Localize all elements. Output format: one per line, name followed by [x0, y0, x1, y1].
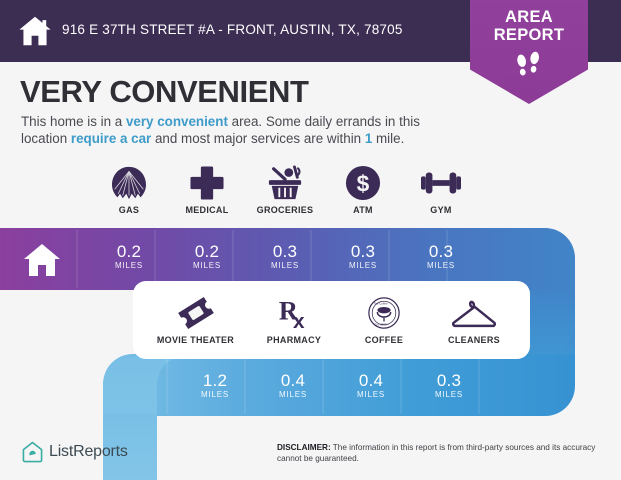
distance-unit: MILES [250, 261, 320, 271]
category-label: CLEANERS [428, 335, 520, 345]
logo-text: ListReports [49, 443, 128, 461]
distance-value: 0.4 [336, 371, 406, 390]
category-label: MEDICAL [168, 205, 246, 215]
category-gas[interactable]: GAS [90, 163, 168, 215]
svg-text:Est. 2003: Est. 2003 [375, 322, 387, 326]
distance-unit: MILES [94, 261, 164, 271]
distance-medical: 0.2 MILES [172, 242, 242, 271]
page-subtitle: This home is in a very convenient area. … [21, 113, 451, 147]
distance-cleaners: 0.3 MILES [414, 371, 484, 400]
grocery-basket-icon [246, 163, 324, 203]
disclaimer-label: DISCLAIMER: [277, 443, 331, 452]
dumbbell-icon [402, 163, 480, 203]
distance-value: 0.2 [94, 242, 164, 261]
subtitle-part-4: mile. [372, 131, 404, 146]
subtitle-highlight-2: require a car [71, 131, 151, 146]
distance-unit: MILES [414, 390, 484, 400]
listreports-house-icon [22, 441, 43, 463]
category-groceries[interactable]: GROCERIES [246, 163, 324, 215]
coffee-seal-icon: The Coffee Est. 2003 [340, 293, 428, 333]
distance-value: 0.3 [414, 371, 484, 390]
category-label: GAS [90, 205, 168, 215]
disclaimer: DISCLAIMER: The information in this repo… [277, 442, 597, 464]
dollar-circle-icon: $ [324, 163, 402, 203]
category-label: PHARMACY [248, 335, 340, 345]
distance-value: 0.2 [172, 242, 242, 261]
area-report-page: 916 E 37TH STREET #A - FRONT, AUSTIN, TX… [0, 0, 621, 480]
distance-unit: MILES [328, 261, 398, 271]
distance-unit: MILES [406, 261, 476, 271]
row1-category-icons: GAS MEDICAL [0, 163, 621, 225]
subtitle-part-3: and most major services are within [151, 131, 365, 146]
distance-gas: 0.2 MILES [94, 242, 164, 271]
category-movie-theater[interactable]: MOVIE THEATER [143, 293, 248, 345]
category-cleaners[interactable]: CLEANERS [428, 293, 520, 345]
badge-title: AREA REPORT [470, 8, 588, 44]
svg-text:x: x [293, 310, 305, 331]
hanger-icon [428, 293, 520, 333]
rx-icon: R x [248, 293, 340, 333]
ticket-icon [143, 293, 248, 333]
badge-line-2: REPORT [494, 26, 565, 44]
area-report-badge: AREA REPORT [470, 0, 588, 104]
property-address: 916 E 37TH STREET #A - FRONT, AUSTIN, TX… [62, 22, 403, 37]
category-atm[interactable]: $ ATM [324, 163, 402, 215]
distance-value: 0.3 [406, 242, 476, 261]
svg-text:The Coffee: The Coffee [374, 302, 388, 306]
distance-value: 0.3 [250, 242, 320, 261]
distance-value: 0.4 [258, 371, 328, 390]
badge-line-1: AREA [505, 8, 553, 26]
row2-category-card: MOVIE THEATER R x PHARMACY [133, 281, 530, 359]
distance-pharmacy: 0.4 MILES [258, 371, 328, 400]
distance-value: 1.2 [180, 371, 250, 390]
category-pharmacy[interactable]: R x PHARMACY [248, 293, 340, 345]
distance-value: 0.3 [328, 242, 398, 261]
footprints-icon [512, 50, 546, 84]
category-coffee[interactable]: The Coffee Est. 2003 COFFEE [340, 293, 428, 345]
category-medical[interactable]: MEDICAL [168, 163, 246, 215]
listreports-logo[interactable]: ListReports [22, 441, 128, 463]
category-gym[interactable]: GYM [402, 163, 480, 215]
distance-unit: MILES [172, 261, 242, 271]
distance-coffee: 0.4 MILES [336, 371, 406, 400]
distance-unit: MILES [258, 390, 328, 400]
distance-groceries: 0.3 MILES [250, 242, 320, 271]
distance-unit: MILES [180, 390, 250, 400]
category-label: ATM [324, 205, 402, 215]
distance-gym: 0.3 MILES [406, 242, 476, 271]
category-label: GYM [402, 205, 480, 215]
medical-cross-icon [168, 163, 246, 203]
category-label: COFFEE [340, 335, 428, 345]
shell-icon [90, 163, 168, 203]
subtitle-highlight-1: very convenient [126, 114, 228, 129]
category-label: GROCERIES [246, 205, 324, 215]
subtitle-part-1: This home is in a [21, 114, 126, 129]
distance-atm: 0.3 MILES [328, 242, 398, 271]
distance-unit: MILES [336, 390, 406, 400]
house-icon [18, 14, 52, 48]
badge-content: AREA REPORT [470, 0, 588, 104]
page-title: VERY CONVENIENT [20, 74, 309, 110]
svg-text:$: $ [357, 171, 370, 197]
category-label: MOVIE THEATER [143, 335, 248, 345]
distance-movie-theater: 1.2 MILES [180, 371, 250, 400]
